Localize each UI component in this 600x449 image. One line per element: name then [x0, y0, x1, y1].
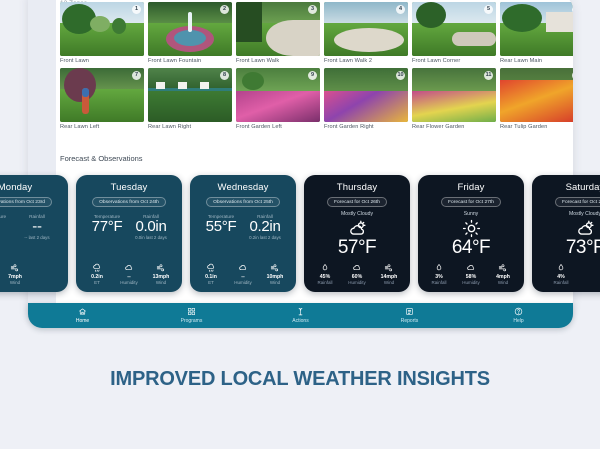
- weather-metrics: 0.1inET--Humidity10mphWind: [190, 262, 296, 285]
- zone-number-badge: 4: [396, 5, 405, 14]
- weather-card-date-pill: Forecast for Oct 27th: [441, 197, 501, 207]
- humidity-icon: [594, 262, 600, 273]
- metric-label: ET: [196, 280, 226, 285]
- forecast-temperature: 57°F: [304, 237, 410, 259]
- zone-label: Rear Flower Garden: [412, 124, 496, 130]
- home-icon: [28, 307, 137, 317]
- temperature-value: 55°F: [199, 218, 243, 235]
- rainfall-value: 0.2in: [243, 218, 287, 235]
- zone-number-badge: 7: [132, 71, 141, 80]
- metric-label: Wind: [146, 280, 176, 285]
- zone-thumbnail[interactable]: 5: [412, 2, 496, 56]
- weather-card-observation[interactable]: TuesdayObservations from Oct 24thTempera…: [76, 175, 182, 292]
- help-icon: [464, 307, 573, 317]
- zone-thumbnail[interactable]: 12: [500, 68, 573, 122]
- weather-metrics: 45%Rainfall60%Humidity14mphWind: [304, 262, 410, 285]
- weather-condition: Mostly Cloudy: [304, 211, 410, 217]
- nav-item-programs[interactable]: Programs: [137, 307, 246, 325]
- zone-tile[interactable]: 3Front Lawn Walk: [236, 2, 320, 64]
- weather-metric: 14mphWind: [374, 262, 404, 285]
- temperature-value: 77°F: [85, 218, 129, 235]
- observation-values: Temperature77°FRainfall0.0in0.0in last 2…: [76, 214, 182, 240]
- headline-text: IMPROVED LOCAL WEATHER INSIGHTS: [0, 368, 600, 391]
- nav-item-home[interactable]: Home: [28, 307, 137, 325]
- et-icon: [196, 262, 226, 273]
- nav-item-label: Reports: [355, 318, 464, 324]
- wind-icon: [0, 262, 30, 273]
- metric-label: Humidity: [114, 280, 144, 285]
- grid-icon: [137, 307, 246, 317]
- weather-metric: 45%Rainfall: [310, 262, 340, 285]
- rainfall-value: --: [15, 218, 59, 235]
- weather-metric: 4%Rainfall: [546, 262, 576, 285]
- rainfall-sub: 0.2in last 2 days: [243, 235, 287, 240]
- zone-number-badge: 8: [220, 71, 229, 80]
- zone-label: Front Lawn Fountain: [148, 58, 232, 64]
- metric-label: Rainfall: [310, 280, 340, 285]
- zone-thumbnail[interactable]: 8: [148, 68, 232, 122]
- zone-number-badge: 10: [396, 71, 405, 80]
- observation-rainfall: Rainfall0.0in0.0in last 2 days: [129, 214, 173, 240]
- weather-metric: 0.2inET: [82, 262, 112, 285]
- weather-card-forecast[interactable]: ThursdayForecast for Oct 26thMostly Clou…: [304, 175, 410, 292]
- weather-metric: 50%Humidity: [594, 262, 600, 285]
- partly-cloudy-icon: [304, 218, 410, 238]
- weather-cards-row: MondayObservations from Oct 23rdTemperat…: [0, 175, 600, 297]
- zone-label: Rear Lawn Main: [500, 58, 573, 64]
- temperature-caption: Temperature: [0, 214, 15, 219]
- nav-item-label: Home: [28, 318, 137, 324]
- zone-tile[interactable]: 6Rear Lawn Main: [500, 2, 573, 64]
- observation-temperature: Temperature: [0, 214, 15, 240]
- humidity-icon: [114, 262, 144, 273]
- humidity-icon: [342, 262, 372, 273]
- zone-tile[interactable]: 7Rear Lawn Left: [60, 68, 144, 130]
- metric-label: Wind: [0, 280, 30, 285]
- weather-metric: --Humidity: [228, 262, 258, 285]
- raindrop-icon: [424, 262, 454, 273]
- weather-metric: 3%Rainfall: [424, 262, 454, 285]
- nav-item-actions[interactable]: Actions: [246, 307, 355, 325]
- zone-number-badge: 9: [308, 71, 317, 80]
- observation-rainfall: Rainfall---- last 2 days: [15, 214, 59, 240]
- sun-icon: [418, 218, 524, 238]
- wind-icon: [260, 262, 290, 273]
- metric-label: Humidity: [228, 280, 258, 285]
- metric-label: Humidity: [456, 280, 486, 285]
- forecast-section-title: Forecast & Observations: [60, 154, 143, 163]
- weather-card-day: Friday: [418, 182, 524, 193]
- weather-card-date-pill: Observations from Oct 25th: [206, 197, 280, 207]
- weather-metric: 7mphWind: [0, 262, 30, 285]
- rainfall-sub: -- last 2 days: [15, 235, 59, 240]
- rainfall-value: 0.0in: [129, 218, 173, 235]
- zone-label: Front Garden Left: [236, 124, 320, 130]
- weather-card-forecast[interactable]: FridayForecast for Oct 27thSunny64°F3%Ra…: [418, 175, 524, 292]
- partly-cloudy-icon: [532, 218, 600, 238]
- nav-item-reports[interactable]: Reports: [355, 307, 464, 325]
- weather-metric: 13mphWind: [146, 262, 176, 285]
- zone-label: Rear Lawn Right: [148, 124, 232, 130]
- zone-label: Rear Tulip Garden: [500, 124, 573, 130]
- forecast-temperature: 64°F: [418, 237, 524, 259]
- weather-metric: 58%Humidity: [456, 262, 486, 285]
- zone-label: Front Garden Right: [324, 124, 408, 130]
- sprinkler-icon: [246, 307, 355, 317]
- weather-condition: Sunny: [418, 211, 524, 217]
- weather-card-forecast[interactable]: SaturdayForecast for Oct 28thMostly Clou…: [532, 175, 600, 292]
- observation-temperature: Temperature55°F: [199, 214, 243, 240]
- nav-item-label: Help: [464, 318, 573, 324]
- metric-label: Wind: [374, 280, 404, 285]
- metric-label: ET: [82, 280, 112, 285]
- weather-card-observation[interactable]: MondayObservations from Oct 23rdTemperat…: [0, 175, 68, 292]
- weather-metrics: 7mphWind: [0, 262, 68, 285]
- zone-tile[interactable]: 8Rear Lawn Right: [148, 68, 232, 130]
- observation-temperature: Temperature77°F: [85, 214, 129, 240]
- zone-thumbnail[interactable]: 9: [236, 68, 320, 122]
- weather-card-observation[interactable]: WednesdayObservations from Oct 25thTempe…: [190, 175, 296, 292]
- zone-thumbnail[interactable]: 3: [236, 2, 320, 56]
- weather-card-day: Tuesday: [76, 182, 182, 193]
- humidity-icon: [228, 262, 258, 273]
- weather-card-day: Saturday: [532, 182, 600, 193]
- weather-metric: 10mphWind: [260, 262, 290, 285]
- zone-thumbnail[interactable]: 4: [324, 2, 408, 56]
- zone-label: Rear Lawn Left: [60, 124, 144, 130]
- zone-thumbnail[interactable]: 10: [324, 68, 408, 122]
- weather-metric: 60%Humidity: [342, 262, 372, 285]
- nav-item-label: Programs: [137, 318, 246, 324]
- metric-label: Wind: [488, 280, 518, 285]
- weather-card-day: Thursday: [304, 182, 410, 193]
- zone-number-badge: 2: [220, 5, 229, 14]
- weather-card-day: Wednesday: [190, 182, 296, 193]
- observation-values: Temperature55°FRainfall0.2in0.2in last 2…: [190, 214, 296, 240]
- weather-condition: Mostly Cloudy: [532, 211, 600, 217]
- wind-icon: [374, 262, 404, 273]
- weather-metrics: 3%Rainfall58%Humidity4mphWind: [418, 262, 524, 285]
- zone-tile[interactable]: 1Front Lawn: [60, 2, 144, 64]
- zone-number-badge: 11: [484, 71, 493, 80]
- metric-label: Humidity: [342, 280, 372, 285]
- weather-card-date-pill: Observations from Oct 23rd: [0, 197, 52, 207]
- zone-tile[interactable]: 4Front Lawn Walk 2: [324, 2, 408, 64]
- humidity-icon: [456, 262, 486, 273]
- raindrop-icon: [546, 262, 576, 273]
- nav-item-label: Actions: [246, 318, 355, 324]
- zone-tile[interactable]: 2Front Lawn Fountain: [148, 2, 232, 64]
- zone-thumbnail[interactable]: 7: [60, 68, 144, 122]
- weather-metric: --Humidity: [114, 262, 144, 285]
- observation-rainfall: Rainfall0.2in0.2in last 2 days: [243, 214, 287, 240]
- zone-tile[interactable]: 9Front Garden Left: [236, 68, 320, 130]
- metric-label: Rainfall: [424, 280, 454, 285]
- zone-tile[interactable]: 5Front Lawn Corner: [412, 2, 496, 64]
- weather-card-day: Monday: [0, 182, 68, 193]
- zone-label: Front Lawn: [60, 58, 144, 64]
- observation-values: TemperatureRainfall---- last 2 days: [0, 214, 68, 240]
- zone-thumbnail[interactable]: 1: [60, 2, 144, 56]
- zone-thumbnail[interactable]: 11: [412, 68, 496, 122]
- weather-metric: 4mphWind: [488, 262, 518, 285]
- zone-number-badge: 1: [132, 5, 141, 14]
- weather-metrics: 0.2inET--Humidity13mphWind: [76, 262, 182, 285]
- report-icon: [355, 307, 464, 317]
- zone-label: Front Lawn Walk: [236, 58, 320, 64]
- zone-tile[interactable]: 11Rear Flower Garden: [412, 68, 496, 130]
- weather-metric: 0.1inET: [196, 262, 226, 285]
- raindrop-icon: [310, 262, 340, 273]
- nav-item-help[interactable]: Help: [464, 307, 573, 325]
- zone-thumbnail[interactable]: 6: [500, 2, 573, 56]
- metric-label: Humidity: [594, 280, 600, 285]
- weather-card-date-pill: Observations from Oct 24th: [92, 197, 166, 207]
- zone-number-badge: 5: [484, 5, 493, 14]
- wind-icon: [146, 262, 176, 273]
- et-icon: [82, 262, 112, 273]
- zone-label: Front Lawn Walk 2: [324, 58, 408, 64]
- zone-grid: 1Front Lawn2Front Lawn Fountain3Front La…: [60, 2, 573, 130]
- weather-card-date-pill: Forecast for Oct 26th: [327, 197, 387, 207]
- metric-label: Rainfall: [546, 280, 576, 285]
- wind-icon: [488, 262, 518, 273]
- zone-thumbnail[interactable]: 2: [148, 2, 232, 56]
- forecast-temperature: 73°F: [532, 237, 600, 259]
- metric-label: Wind: [260, 280, 290, 285]
- zone-tile[interactable]: 12Rear Tulip Garden: [500, 68, 573, 130]
- bottom-navigation-bar: HomeProgramsActionsReportsHelp: [28, 303, 573, 328]
- zone-tile[interactable]: 10Front Garden Right: [324, 68, 408, 130]
- zone-label: Front Lawn Corner: [412, 58, 496, 64]
- zone-number-badge: 3: [308, 5, 317, 14]
- rainfall-sub: 0.0in last 2 days: [129, 235, 173, 240]
- weather-card-date-pill: Forecast for Oct 28th: [555, 197, 600, 207]
- weather-metrics: 4%Rainfall50%Humidity: [532, 262, 600, 285]
